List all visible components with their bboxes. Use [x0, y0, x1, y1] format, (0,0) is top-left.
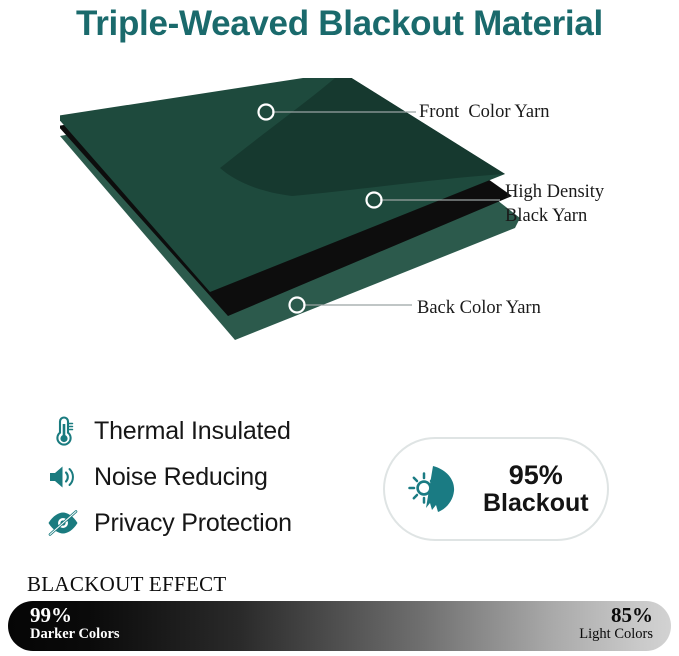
callout-label-front: Front Color Yarn: [419, 101, 550, 125]
badge-percent: 95%: [483, 461, 589, 490]
eye-slash-icon: [46, 506, 80, 540]
callout-label-black: High Density Black Yarn: [505, 181, 604, 228]
badge-text: 95% Blackout: [483, 461, 589, 516]
callout-label-back: Back Color Yarn: [417, 297, 541, 321]
speaker-sound-icon: [46, 460, 80, 494]
feature-item-noise-reducing: Noise Reducing: [46, 454, 366, 500]
badge-word: Blackout: [483, 490, 589, 517]
light-colors-percent: 85%: [579, 605, 653, 627]
sun-behind-curtain-icon: [405, 459, 469, 519]
feature-label-thermal-insulated: Thermal Insulated: [94, 417, 291, 446]
light-colors-label: Light Colors: [579, 627, 653, 642]
darker-colors-percent: 99%: [30, 605, 120, 627]
gradient-bar-right-stat: 85% Light Colors: [579, 605, 653, 642]
page-title: Triple-Weaved Blackout Material: [0, 4, 679, 44]
product-infographic: Triple-Weaved Blackout Material: [0, 0, 679, 656]
blackout-effect-heading: BLACKOUT EFFECT: [27, 572, 227, 597]
feature-list: Thermal Insulated Noise Reducing: [46, 408, 366, 546]
feature-label-noise-reducing: Noise Reducing: [94, 463, 268, 492]
curtain-shape: [426, 466, 454, 512]
feature-item-thermal-insulated: Thermal Insulated: [46, 408, 366, 454]
feature-label-privacy-protection: Privacy Protection: [94, 509, 292, 538]
darker-colors-label: Darker Colors: [30, 627, 120, 642]
blackout-badge: 95% Blackout: [383, 437, 609, 541]
feature-item-privacy-protection: Privacy Protection: [46, 500, 366, 546]
gradient-bar-left-stat: 99% Darker Colors: [30, 605, 120, 642]
thermometer-icon: [46, 414, 80, 448]
